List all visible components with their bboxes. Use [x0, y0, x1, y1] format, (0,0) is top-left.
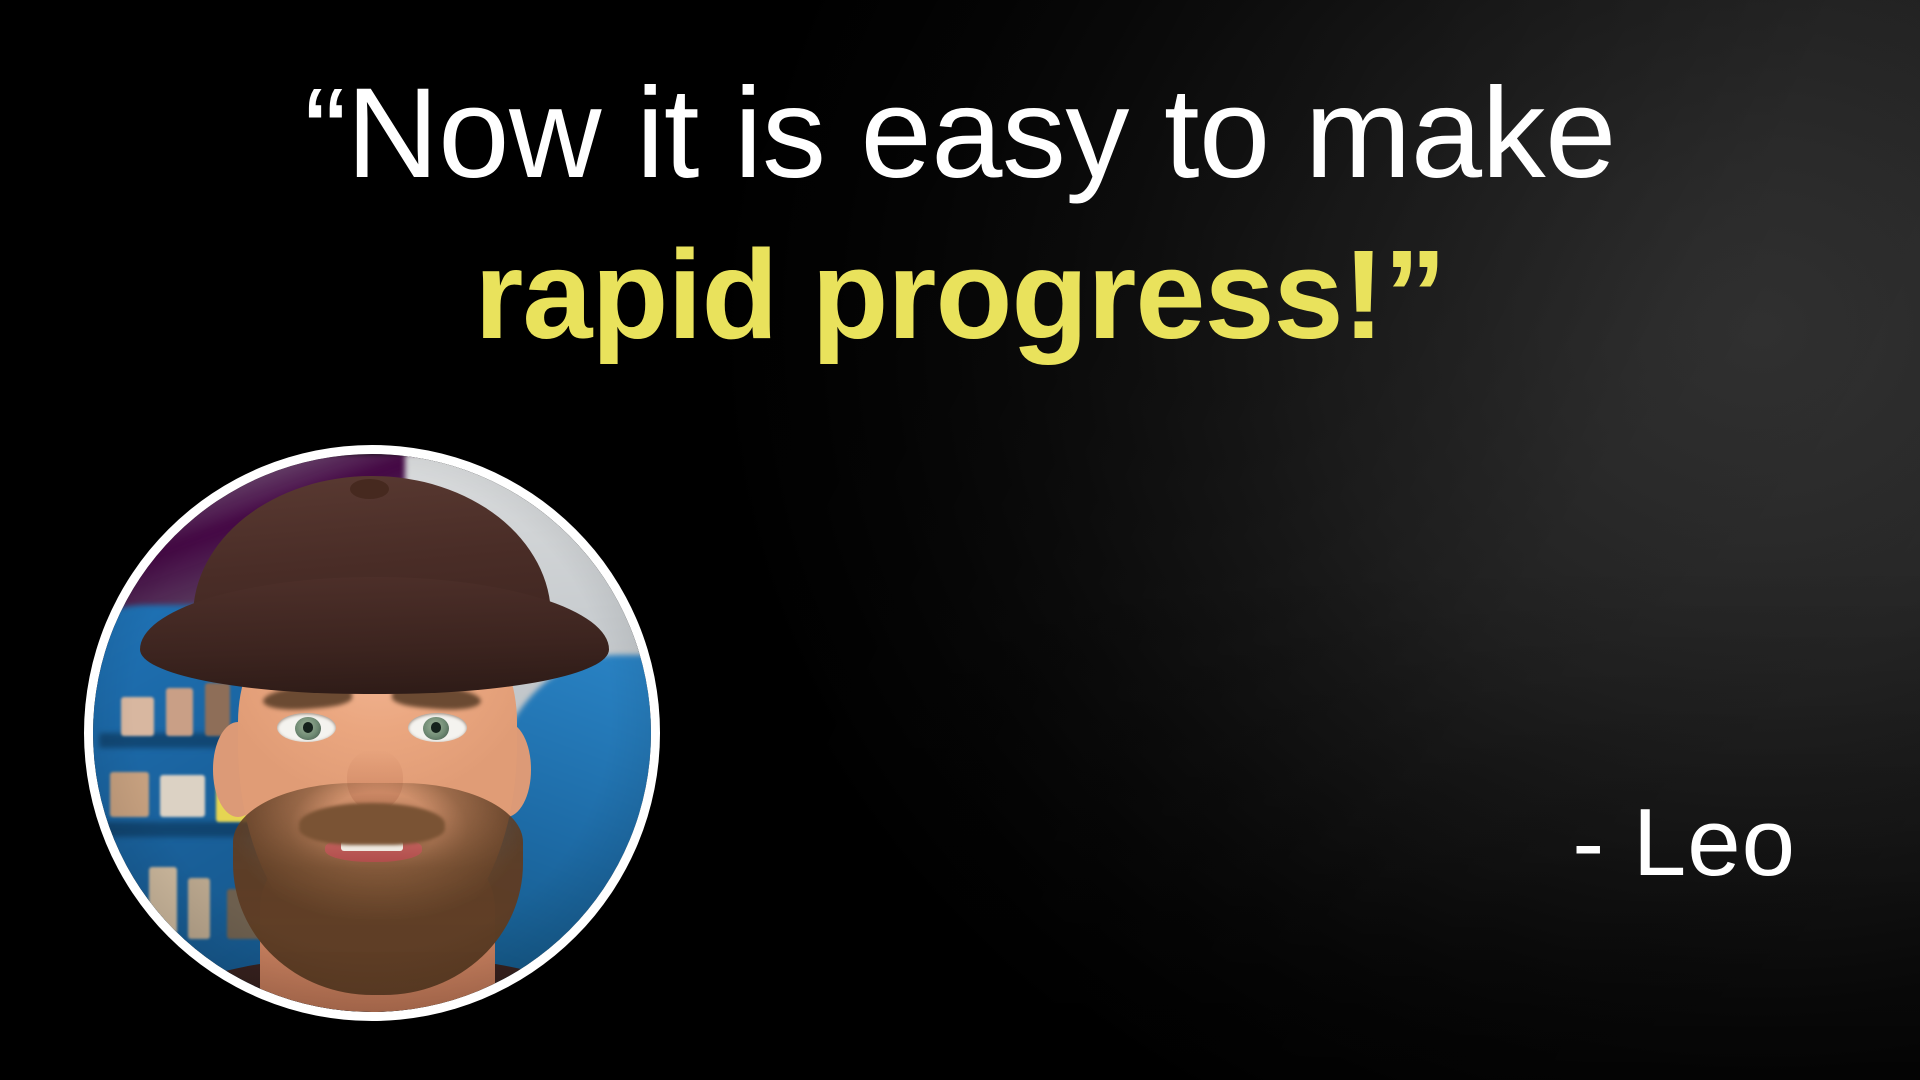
quote-line-one: “Now it is easy to make	[0, 48, 1920, 198]
avatar-photo	[93, 454, 651, 1012]
photo-vignette	[93, 454, 651, 1012]
quote-card: “Now it is easy to make rapid progress!”	[0, 0, 1920, 1080]
quote-line-two-highlighted: rapid progress!”	[0, 198, 1920, 358]
quote-block: “Now it is easy to make rapid progress!”	[0, 48, 1920, 358]
avatar	[93, 454, 651, 1012]
attribution-text: - Leo	[1572, 795, 1796, 891]
